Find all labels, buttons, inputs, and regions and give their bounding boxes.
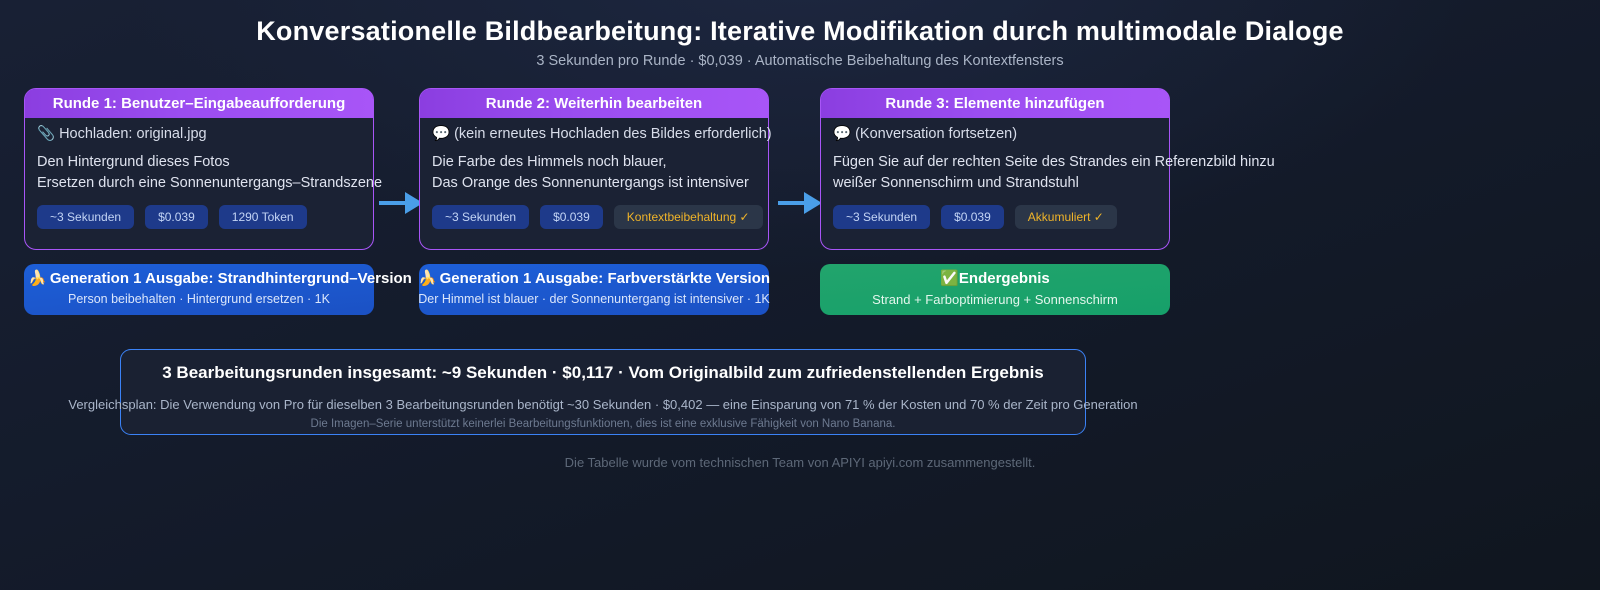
paperclip-icon: 📎 <box>37 126 55 142</box>
page-title: Konversationelle Bildbearbeitung: Iterat… <box>0 16 1600 47</box>
badge-cost: $0.039 <box>941 205 1004 229</box>
check-mark-icon: ✅ <box>940 270 959 287</box>
round-card-3-badges: ~3 Sekunden $0.039 Akkumuliert ✓ <box>833 205 1117 229</box>
round-card-1-meta-text: Hochladen: original.jpg <box>59 126 207 142</box>
generation-output-2-subtitle: Der Himmel ist blauer · der Sonnenunterg… <box>411 292 777 306</box>
summary-comparison: Vergleichsplan: Die Verwendung von Pro f… <box>25 397 1181 412</box>
round-card-1-heading: Runde 1: Benutzer–Eingabeaufforderung <box>25 89 373 118</box>
banana-icon: 🍌 <box>28 270 47 287</box>
round-card-1-body: 📎Hochladen: original.jpg Den Hintergrund… <box>37 125 413 194</box>
round-card-3: Runde 3: Elemente hinzufügen 💬(Konversat… <box>820 88 1170 250</box>
round-card-1-prompt-line-2: Ersetzen durch eine Sonnenuntergangs–Str… <box>37 173 413 194</box>
round-card-1-meta-line: 📎Hochladen: original.jpg <box>37 125 413 142</box>
badge-duration: ~3 Sekunden <box>37 205 134 229</box>
final-result-subtitle: Strand + Farboptimierung + Sonnenschirm <box>820 292 1170 307</box>
round-card-1-badges: ~3 Sekunden $0.039 1290 Token <box>37 205 307 229</box>
final-result-title: ✅Endergebnis <box>820 269 1170 287</box>
badge-cost: $0.039 <box>145 205 208 229</box>
round-card-2-meta-text: (kein erneutes Hochladen des Bildes erfo… <box>454 126 772 142</box>
generation-output-2-title-text: Generation 1 Ausgabe: Farbverstärkte Ver… <box>440 270 770 287</box>
generation-output-1-title: 🍌Generation 1 Ausgabe: Strandhintergrund… <box>24 269 416 287</box>
round-card-3-heading: Runde 3: Elemente hinzufügen <box>821 89 1169 118</box>
generation-output-1-subtitle: Person beibehalten · Hintergrund ersetze… <box>16 292 382 306</box>
summary-headline: 3 Bearbeitungsrunden insgesamt: ~9 Sekun… <box>121 363 1085 383</box>
round-card-3-prompt-line-1: Fügen Sie auf der rechten Seite des Stra… <box>833 152 1209 173</box>
footer-credit: Die Tabelle wurde vom technischen Team v… <box>0 455 1600 470</box>
round-card-3-prompt-line-2: weißer Sonnenschirm und Strandstuhl <box>833 173 1209 194</box>
generation-output-2: 🍌Generation 1 Ausgabe: Farbverstärkte Ve… <box>419 264 769 315</box>
badge-context-retention: Kontextbeibehaltung ✓ <box>614 205 763 229</box>
speech-bubble-icon: 💬 <box>833 126 851 142</box>
round-card-2-badges: ~3 Sekunden $0.039 Kontextbeibehaltung ✓ <box>432 205 763 229</box>
generation-output-2-title: 🍌Generation 1 Ausgabe: Farbverstärkte Ve… <box>415 269 773 287</box>
final-result-box: ✅Endergebnis Strand + Farboptimierung + … <box>820 264 1170 315</box>
arrow-round2-to-round3 <box>778 192 822 214</box>
round-card-3-meta-text: (Konversation fortsetzen) <box>855 126 1017 142</box>
generation-output-1-title-text: Generation 1 Ausgabe: Strandhintergrund–… <box>50 270 412 287</box>
summary-box: 3 Bearbeitungsrunden insgesamt: ~9 Sekun… <box>120 349 1086 435</box>
round-card-2-prompt-line-1: Die Farbe des Himmels noch blauer, <box>432 152 808 173</box>
badge-cost: $0.039 <box>540 205 603 229</box>
summary-note: Die Imagen–Serie unterstützt keinerlei B… <box>121 418 1085 430</box>
round-card-3-meta-line: 💬(Konversation fortsetzen) <box>833 125 1209 142</box>
banana-icon: 🍌 <box>418 270 437 287</box>
arrow-round1-to-round2 <box>379 192 423 214</box>
final-result-title-text: Endergebnis <box>959 270 1050 287</box>
round-card-2-heading: Runde 2: Weiterhin bearbeiten <box>420 89 768 118</box>
round-card-2-prompt-line-2: Das Orange des Sonnenuntergangs ist inte… <box>432 173 808 194</box>
badge-duration: ~3 Sekunden <box>432 205 529 229</box>
speech-bubble-icon: 💬 <box>432 126 450 142</box>
round-card-2-body: 💬(kein erneutes Hochladen des Bildes erf… <box>432 125 808 194</box>
round-card-1-prompt-line-1: Den Hintergrund dieses Fotos <box>37 152 413 173</box>
round-card-1: Runde 1: Benutzer–Eingabeaufforderung 📎H… <box>24 88 374 250</box>
round-card-2-meta-line: 💬(kein erneutes Hochladen des Bildes erf… <box>432 125 808 142</box>
badge-accumulated: Akkumuliert ✓ <box>1015 205 1117 229</box>
generation-output-1: 🍌Generation 1 Ausgabe: Strandhintergrund… <box>24 264 374 315</box>
page-subtitle: 3 Sekunden pro Runde · $0,039 · Automati… <box>0 53 1600 69</box>
round-card-2: Runde 2: Weiterhin bearbeiten 💬(kein ern… <box>419 88 769 250</box>
badge-tokens: 1290 Token <box>219 205 307 229</box>
round-card-3-body: 💬(Konversation fortsetzen) Fügen Sie auf… <box>833 125 1209 194</box>
infographic-canvas: Konversationelle Bildbearbeitung: Iterat… <box>0 0 1600 590</box>
badge-duration: ~3 Sekunden <box>833 205 930 229</box>
